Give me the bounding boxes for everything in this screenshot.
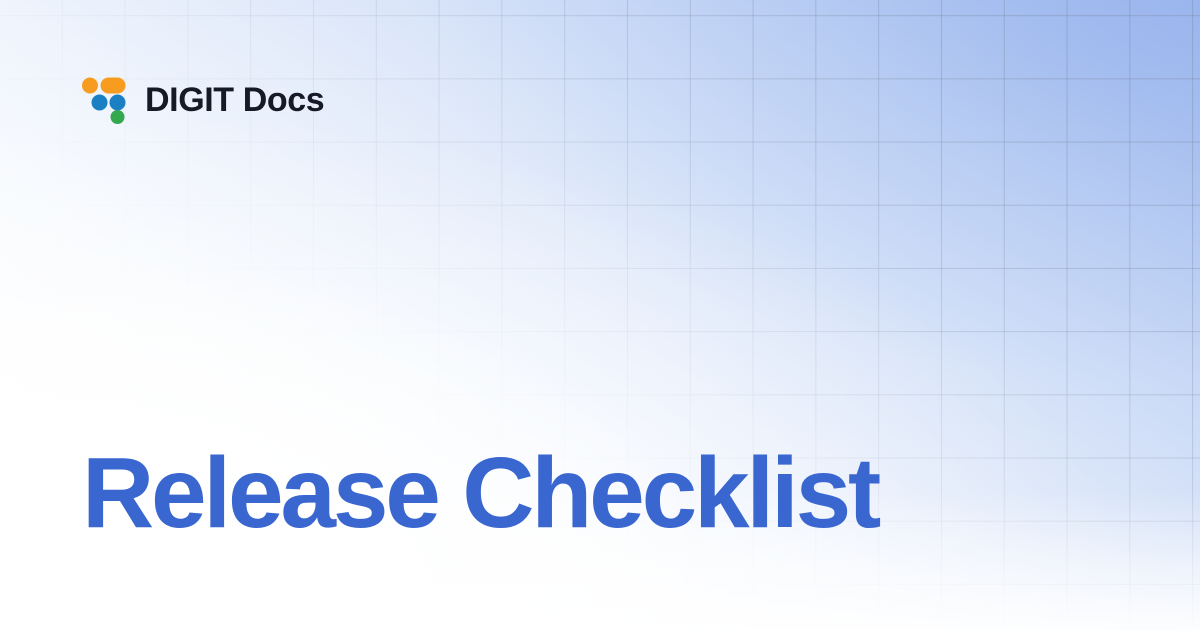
social-preview-card: DIGIT Docs Release Checklist bbox=[0, 0, 1200, 630]
digit-dots-logo-icon bbox=[82, 76, 126, 124]
page-title: Release Checklist bbox=[82, 443, 1122, 543]
brand-lockup: DIGIT Docs bbox=[82, 76, 324, 124]
brand-name: DIGIT Docs bbox=[145, 83, 324, 117]
